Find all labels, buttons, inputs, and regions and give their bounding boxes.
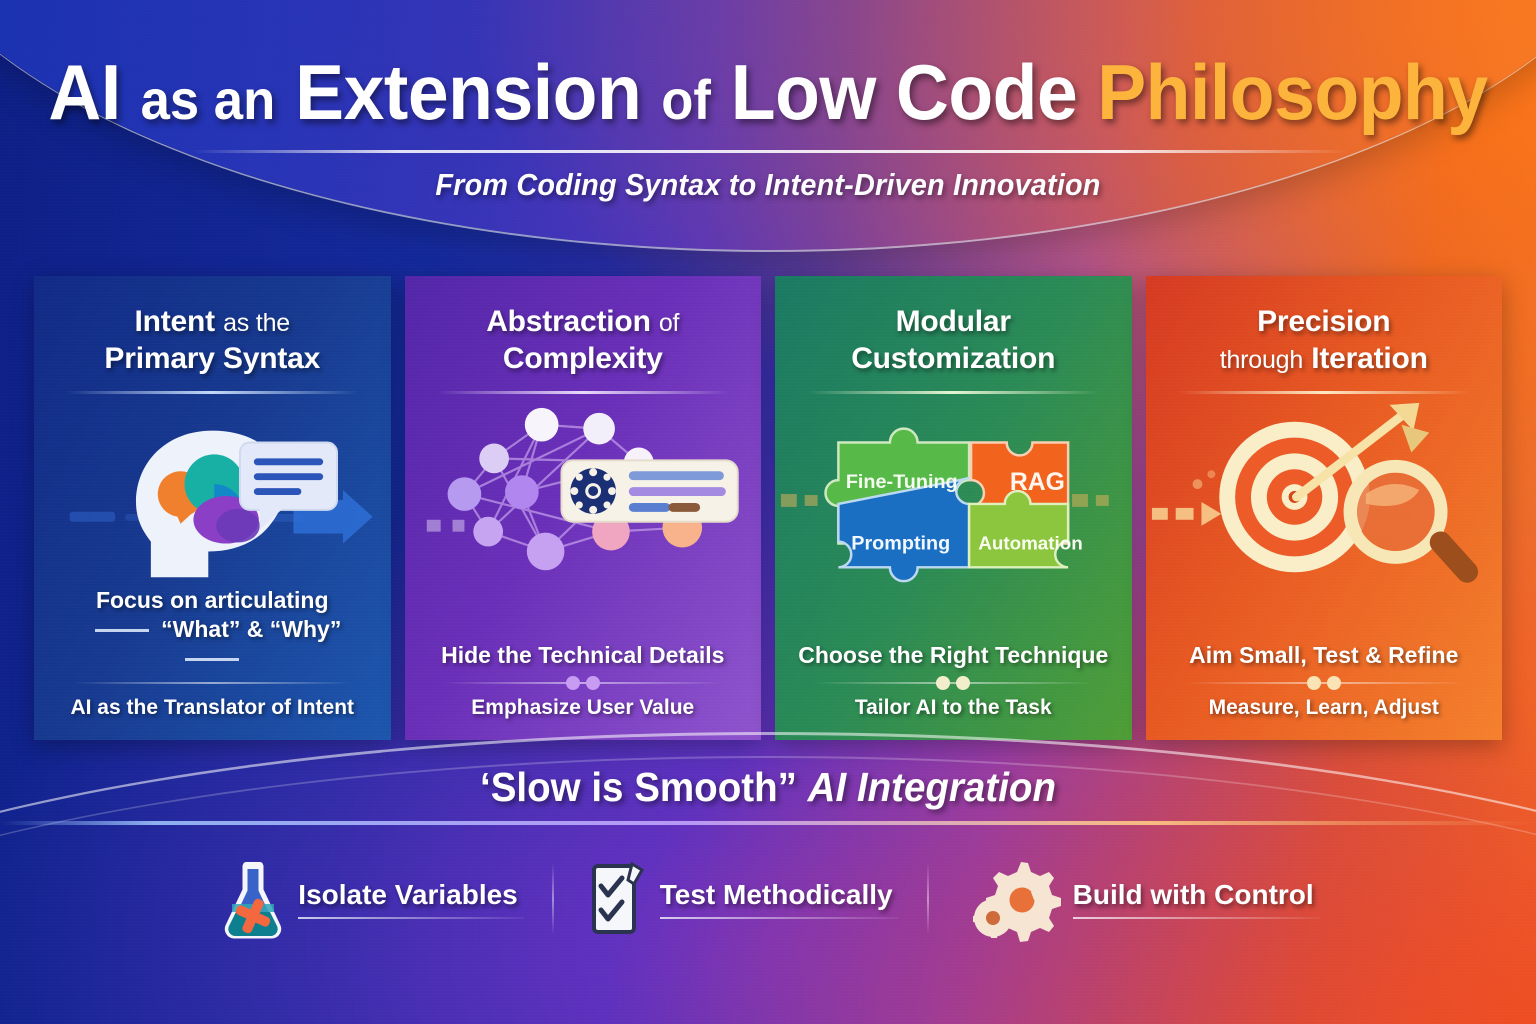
separator-dot-1 [936, 676, 950, 690]
puzzle-label-fine-tuning: Fine-Tuning [846, 471, 958, 493]
puzzle-pieces-icon: Fine-Tuning RAG Prompting Automation [775, 402, 1132, 592]
panel-abstraction-of-complexity[interactable]: Abstraction of Complexity [405, 276, 762, 740]
panel-tagline: Measure, Learn, Adjust [1146, 696, 1503, 720]
panel-divider [66, 391, 358, 394]
panel-illustration: Fine-Tuning RAG Prompting Automation [775, 402, 1132, 592]
footer: ‘Slow is Smooth” AI Integration Isolate … [0, 740, 1536, 1024]
separator-dot-1 [1307, 676, 1321, 690]
gears-icon [963, 860, 1059, 938]
footer-item-label: Isolate Variables [298, 879, 517, 919]
puzzle-label-automation: Automation [978, 533, 1082, 554]
page-subtitle: From Coding Syntax to Intent-Driven Inno… [54, 167, 1482, 203]
panel-footer: Focus on articulating “What” & “Why” AI … [34, 586, 391, 720]
panel-row: Intent as the Primary Syntax [34, 276, 1502, 740]
panel-title: Abstraction of Complexity [421, 304, 746, 377]
panel-illustration [34, 402, 391, 592]
title-part-lowcode: Low Code [731, 48, 1078, 136]
panel-title-light: of [659, 309, 679, 337]
panel-statement: Hide the Technical Details [405, 641, 762, 670]
panel-illustration [405, 402, 762, 592]
checklist-icon [588, 860, 646, 938]
title-part-extension: Extension [295, 48, 641, 136]
panel-divider [1178, 391, 1470, 394]
panel-title: Precision through Iteration [1162, 304, 1487, 377]
panel-title: Intent as the Primary Syntax [50, 304, 375, 377]
panel-title-light: as the [223, 309, 290, 337]
panel-precision-through-iteration[interactable]: Precision through Iteration [1146, 276, 1503, 740]
title-part-ai: AI [48, 48, 120, 136]
title-divider [190, 150, 1350, 153]
head-with-speech-bubbles-icon [34, 402, 391, 592]
footer-item-build-with-control[interactable]: Build with Control [929, 860, 1348, 938]
separator-dot-2 [586, 676, 600, 690]
panel-title-line2: Customization [851, 342, 1055, 375]
neural-network-with-panel-icon [405, 402, 762, 592]
panel-statement: Choose the Right Technique [775, 641, 1132, 670]
panel-title-line2: Primary Syntax [104, 342, 320, 375]
panel-title-light: through [1220, 346, 1303, 374]
panel-title-strong: Abstraction [486, 305, 651, 338]
panel-statement-line-a: Focus on articulating [96, 587, 329, 613]
separator-dot-1 [566, 676, 580, 690]
puzzle-label-rag: RAG [1010, 469, 1065, 496]
separator-dot-2 [956, 676, 970, 690]
panel-statement-separator [444, 682, 722, 684]
panel-title-strong: Precision [1257, 305, 1390, 338]
target-with-arrow-and-magnifier-icon [1146, 402, 1503, 592]
footer-title: ‘Slow is Smooth” AI Integration [46, 764, 1490, 811]
panel-tagline: AI as the Translator of Intent [34, 696, 391, 720]
puzzle-label-prompting: Prompting [851, 533, 950, 555]
panel-divider [437, 391, 729, 394]
title-light-of: of [661, 68, 711, 131]
footer-item-label: Test Methodically [660, 879, 893, 919]
footer-title-italic: AI Integration [808, 764, 1056, 810]
header: AI as an Extension of Low Code Philosoph… [0, 0, 1536, 268]
flask-icon [222, 860, 284, 938]
footer-item-label: Build with Control [1073, 879, 1314, 919]
panel-illustration [1146, 402, 1503, 592]
title-accent-philosophy: Philosophy [1097, 48, 1487, 136]
panel-title: Modular Customization [791, 304, 1116, 377]
footer-item-isolate-variables[interactable]: Isolate Variables [188, 860, 551, 938]
infographic-poster: AI as an Extension of Low Code Philosoph… [0, 0, 1536, 1024]
flank-dash-left [95, 629, 149, 632]
panel-footer: Hide the Technical Details Emphasize Use… [405, 641, 762, 720]
panel-title-line2: Iteration [1311, 342, 1428, 375]
footer-title-quoted: ‘Slow is Smooth” [480, 764, 797, 810]
panel-statement: Focus on articulating “What” & “Why” [34, 586, 391, 672]
panel-statement-separator [73, 682, 351, 684]
footer-item-list: Isolate Variables Test Methodically [0, 844, 1536, 954]
panel-title-strong: Intent [135, 305, 215, 338]
panel-footer: Aim Small, Test & Refine Measure, Learn,… [1146, 641, 1503, 720]
panel-tagline: Tailor AI to the Task [775, 696, 1132, 720]
separator-dot-2 [1327, 676, 1341, 690]
title-light-as-an: as an [141, 68, 276, 131]
flank-dash-right [185, 658, 239, 661]
panel-title-strong: Modular [896, 305, 1011, 338]
panel-title-line2: Complexity [503, 342, 663, 375]
footer-divider [0, 821, 1536, 825]
footer-item-test-methodically[interactable]: Test Methodically [554, 860, 927, 938]
panel-modular-customization[interactable]: Modular Customization [775, 276, 1132, 740]
panel-footer: Choose the Right Technique Tailor AI to … [775, 641, 1132, 720]
panel-statement: Aim Small, Test & Refine [1146, 641, 1503, 670]
panel-divider [807, 391, 1099, 394]
panel-intent-as-primary-syntax[interactable]: Intent as the Primary Syntax [34, 276, 391, 740]
panel-tagline: Emphasize User Value [405, 696, 762, 720]
panel-statement-separator [1185, 682, 1463, 684]
panel-statement-separator [814, 682, 1092, 684]
page-title: AI as an Extension of Low Code Philosoph… [46, 52, 1490, 133]
panel-statement-line-b: “What” & “Why” [161, 616, 341, 642]
